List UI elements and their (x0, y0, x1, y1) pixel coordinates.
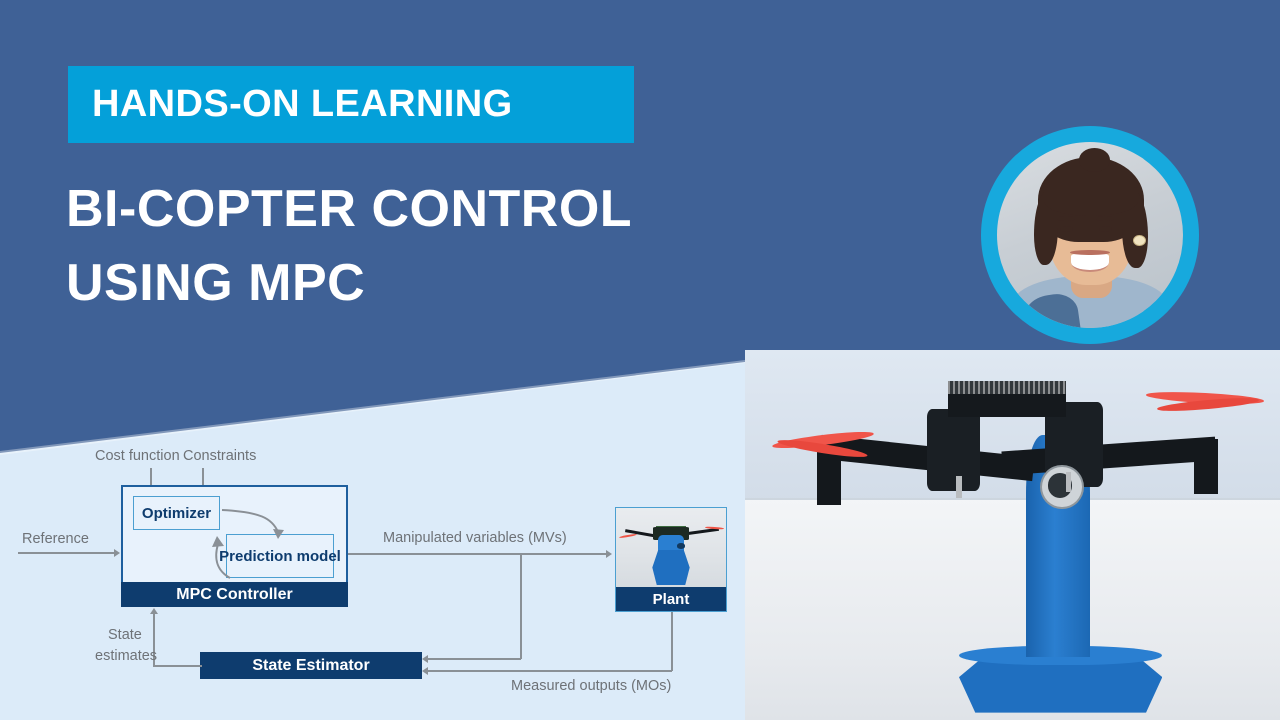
label-state-line-1: State (108, 627, 142, 643)
photo-pin-header (948, 381, 1066, 394)
photo-motor-left (817, 450, 841, 506)
optimizer-prediction-loop (210, 492, 330, 584)
arrow-line-reference (18, 552, 115, 554)
line-mv-branch-down (520, 553, 522, 659)
arrow-head-mo-to-estimator (422, 667, 428, 675)
line-mv-branch-left (428, 658, 521, 660)
label-reference: Reference (22, 531, 89, 547)
state-estimator-block: State Estimator (200, 652, 422, 679)
slide-canvas: HANDS-ON LEARNING BI-COPTER CONTROL USIN… (0, 0, 1280, 720)
label-manipulated-variables: Manipulated variables (MVs) (383, 530, 567, 546)
avatar-image (997, 142, 1183, 328)
avatar (981, 126, 1199, 344)
photo-motor-right (1194, 439, 1218, 495)
arrow-head-state-estimates (150, 608, 158, 614)
mpc-controller-label: MPC Controller (121, 582, 348, 607)
line-mo-down (671, 612, 673, 671)
avatar-brow-right (1096, 216, 1115, 220)
plant-propeller-left (619, 533, 637, 538)
optimizer-block: Optimizer (133, 496, 220, 530)
photo-body-left (927, 409, 981, 490)
title-line-2: USING MPC (66, 246, 766, 320)
line-mo-left (428, 670, 672, 672)
mpc-block-diagram: Cost function Constraints Reference Opti… (0, 430, 745, 720)
avatar-eye-left (1060, 226, 1073, 232)
label-state-line-2: estimates (95, 648, 157, 664)
arrow-head-mv-to-plant (606, 550, 612, 558)
title-line-1: BI-COPTER CONTROL (66, 172, 766, 246)
hands-on-learning-badge: HANDS-ON LEARNING (68, 66, 634, 143)
page-title: BI-COPTER CONTROL USING MPC (66, 172, 766, 320)
label-measured-outputs: Measured outputs (MOs) (511, 678, 671, 694)
arrow-head-reference (114, 549, 120, 557)
label-cost-function: Cost function (95, 448, 180, 464)
plant-label: Plant (616, 587, 726, 611)
badge-label: HANDS-ON LEARNING (92, 83, 513, 126)
photo-bolt-right (1066, 472, 1071, 492)
bicopter-photo (745, 350, 1280, 720)
plant-stand-base (652, 550, 689, 585)
photo-bolt-left (956, 476, 961, 498)
avatar-brow-left (1057, 216, 1076, 220)
arrow-head-mv-to-estimator (422, 655, 428, 663)
label-constraints: Constraints (183, 448, 256, 464)
line-mv (348, 553, 607, 555)
plant-bearing (677, 543, 686, 549)
plant-block: Plant (615, 507, 727, 612)
avatar-hair-bun (1079, 148, 1111, 172)
line-state-estimates-left (153, 665, 202, 667)
avatar-earring (1133, 235, 1146, 246)
plant-thumbnail (616, 508, 726, 588)
